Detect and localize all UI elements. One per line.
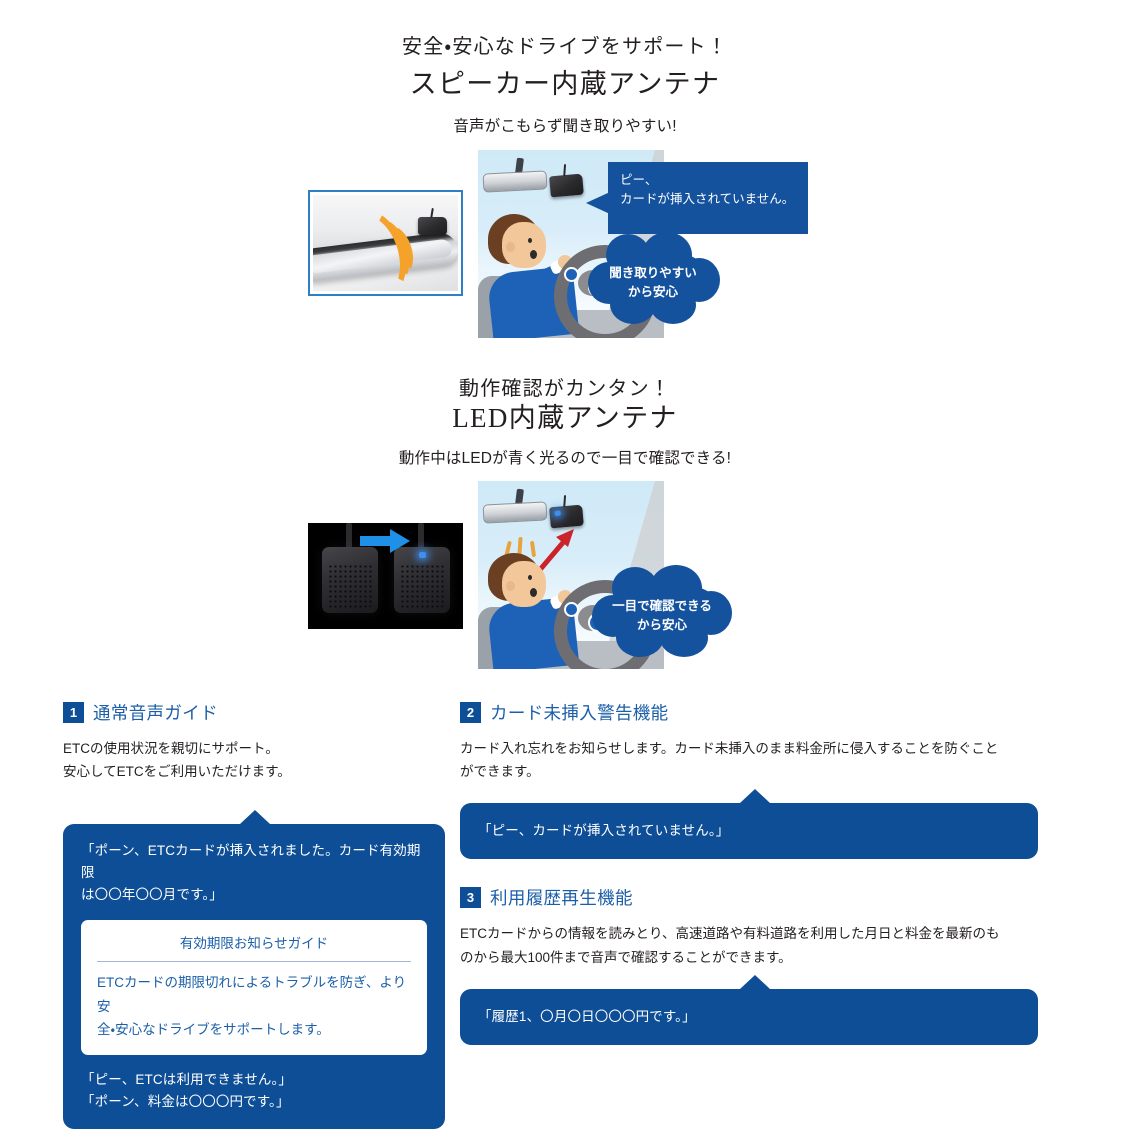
driver-ear (506, 581, 515, 591)
steering-wheel-button (564, 602, 579, 617)
feature-title: カード未挿入警告機能 (490, 700, 669, 725)
feature-number-badge: 3 (460, 887, 481, 908)
expiry-guide-card: 有効期限お知らせガイド ETCカードの期限切れによるトラブルを防ぎ、より安 全・… (81, 920, 427, 1055)
feature-2-body: カード入れ忘れをお知らせします。カード未挿入のまま料金所に侵入することを防ぐこと… (460, 737, 1038, 783)
speaker-section-title: スピーカー内蔵アンテナ (0, 62, 1130, 101)
panel-tail (740, 975, 770, 989)
feature-3-header: 3 利用履歴再生機能 (460, 885, 1038, 910)
cloud-line: 一目で確認できる (592, 597, 732, 616)
panel-line: 「ポーン、ETCカードが挿入されました。カード有効期限 (81, 840, 427, 884)
led-unit-on (394, 547, 450, 613)
panel-tail (740, 789, 770, 803)
feature-2-header: 2 カード未挿入警告機能 (460, 700, 1038, 725)
mirror-antenna-photo (308, 190, 463, 296)
driver-mouth (530, 588, 537, 597)
thought-cloud-speaker: 聞き取りやすい から安心 (588, 232, 718, 324)
feature-title: 通常音声ガイド (93, 700, 218, 725)
feature-title: 利用履歴再生機能 (490, 885, 633, 910)
feature-number-badge: 2 (460, 702, 481, 723)
panel-tail (240, 810, 270, 824)
body-line: ETCの使用状況を親切にサポート。 (63, 737, 445, 760)
balloon-line: ピー、 (620, 171, 796, 190)
body-line: 安心してETCをご利用いただけます。 (63, 760, 445, 783)
card-body: ETCカードの期限切れによるトラブルを防ぎ、より安 全・安心なドライブをサポート… (97, 962, 411, 1042)
feature-1-header: 1 通常音声ガイド (63, 700, 445, 725)
card-line: 全・安心なドライブをサポートします。 (97, 1018, 411, 1042)
feature-column-right: 2 カード未挿入警告機能 カード入れ忘れをお知らせします。カード未挿入のまま料金… (460, 700, 1038, 1045)
mirror-photo-inner (313, 195, 458, 291)
body-line: のから最大100件まで音声で確認することができます。 (460, 946, 1038, 969)
body-line: ができます。 (460, 760, 1038, 783)
thought-cloud-led: 一目で確認できる から安心 (592, 565, 732, 657)
cloud-line: から安心 (592, 616, 732, 635)
led-unit-off (322, 547, 378, 613)
driver-ear (506, 242, 515, 252)
led-section-note: 動作中はLEDが青く光るので一目で確認できる! (0, 446, 1130, 468)
speaker-note-text: 音声がこもらず聞き取りやすい! (0, 114, 1130, 136)
led-indicator-lit (554, 511, 560, 517)
feature-1-body: ETCの使用状況を親切にサポート。 安心してETCをご利用いただけます。 (63, 737, 445, 783)
speaker-subtitle-text: 安全・安心なドライブをサポート！ (0, 30, 1130, 59)
panel-line: 「履歴1、〇月〇日〇〇〇円です。」 (478, 1006, 1020, 1028)
beep-message-balloon: ピー、 カードが挿入されていません。 (608, 162, 808, 234)
panel-line: 「ピー、ETCは利用できません。」 (81, 1069, 427, 1091)
led-indicator-lit (419, 552, 426, 558)
panel-line: は〇〇年〇〇月です。」 (81, 884, 427, 906)
led-title-text: LED内蔵アンテナ (0, 396, 1130, 435)
body-line: カード入れ忘れをお知らせします。カード未挿入のまま料金所に侵入することを防ぐこと (460, 737, 1038, 760)
driver-mouth (530, 250, 537, 259)
led-section-title: LED内蔵アンテナ (0, 396, 1130, 435)
body-line: ETCカードからの情報を読みとり、高速道路や有料道路を利用した月日と料金を最新の… (460, 922, 1038, 945)
etc-antenna-unit (549, 174, 584, 198)
steering-wheel-button (564, 267, 579, 282)
feature-1-panel: 「ポーン、ETCカードが挿入されました。カード有効期限 は〇〇年〇〇月です。」 … (63, 824, 445, 1128)
speaker-section-subtitle: 安全・安心なドライブをサポート！ (0, 30, 1130, 59)
balloon-line: カードが挿入されていません。 (620, 190, 796, 209)
speaker-mesh (328, 564, 372, 608)
cloud-line: 聞き取りやすい (588, 264, 718, 283)
feature-column-left: 1 通常音声ガイド ETCの使用状況を親切にサポート。 安心してETCをご利用い… (63, 700, 445, 1129)
balloon-tail (586, 192, 610, 214)
antenna-cable (346, 523, 352, 549)
panel-line: 「ピー、カードが挿入されていません。」 (478, 820, 1020, 842)
antenna-cable (418, 523, 424, 549)
speaker-title-text: スピーカー内蔵アンテナ (0, 62, 1130, 101)
etc-feature-page: 安全・安心なドライブをサポート！ スピーカー内蔵アンテナ 音声がこもらず聞き取り… (0, 0, 1130, 1069)
speaker-section-note: 音声がこもらず聞き取りやすい! (0, 114, 1130, 136)
rearview-mirror (483, 170, 548, 192)
etc-antenna-unit (418, 217, 447, 235)
blue-arrow-icon (360, 529, 410, 553)
card-title: 有効期限お知らせガイド (97, 932, 411, 962)
rearview-mirror (483, 501, 548, 523)
cloud-line: から安心 (588, 283, 718, 302)
panel-line: 「ポーン、料金は〇〇〇円です。」 (81, 1091, 427, 1113)
feature-2-panel: 「ピー、カードが挿入されていません。」 (460, 803, 1038, 859)
led-antenna-photo (308, 523, 463, 629)
led-photo-inner (308, 523, 463, 629)
feature-3-body: ETCカードからの情報を読みとり、高速道路や有料道路を利用した月日と料金を最新の… (460, 922, 1038, 968)
speaker-mesh (400, 564, 444, 608)
card-line: ETCカードの期限切れによるトラブルを防ぎ、より安 (97, 971, 411, 1018)
led-note-text: 動作中はLEDが青く光るので一目で確認できる! (0, 446, 1130, 468)
feature-number-badge: 1 (63, 702, 84, 723)
feature-3-panel: 「履歴1、〇月〇日〇〇〇円です。」 (460, 989, 1038, 1045)
driver-eye (528, 238, 532, 243)
driver-eye (528, 575, 532, 580)
